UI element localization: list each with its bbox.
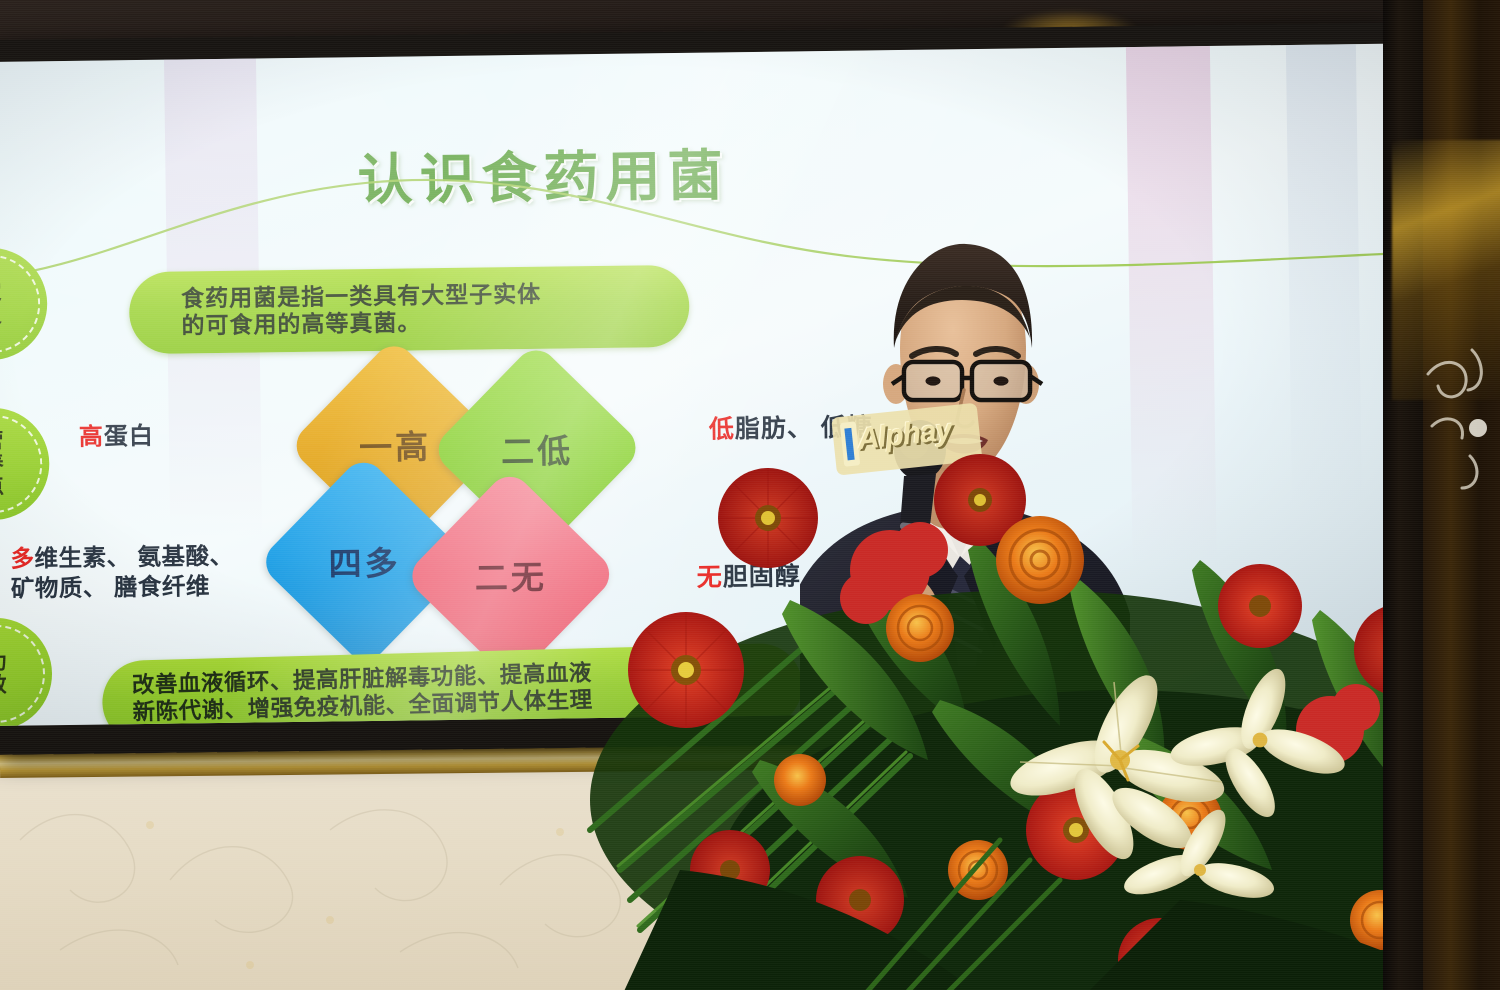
annotation-multi-nutrients: 多维生素、 氨基酸、 矿物质、 膳食纤维 (10, 541, 234, 604)
annotation-multi-nutrients-rest: 维生素、 氨基酸、 矿物质、 膳食纤维 (11, 543, 234, 602)
section-circle-effects: 功 效 (0, 617, 53, 726)
floral-bouquet (560, 400, 1500, 990)
right-panel-swirl-decor (1420, 330, 1500, 510)
annotation-high-protein-rest: 蛋白 (104, 423, 154, 451)
photograph-scene: 认识食药用菌 定 义 营 养 点 功 效 食药用菌是指一类具有大型子实体 的可食… (0, 0, 1500, 990)
annotation-high-protein-highlight: 高 (79, 423, 104, 450)
annotation-high-protein: 高蛋白 (79, 422, 154, 454)
annotation-multi-nutrients-highlight: 多 (10, 545, 34, 571)
section-circle-nutrition: 营 养 点 (0, 407, 50, 520)
definition-banner: 食药用菌是指一类具有大型子实体 的可食用的高等真菌。 (129, 265, 690, 354)
slide-bg-band-left (164, 58, 265, 723)
